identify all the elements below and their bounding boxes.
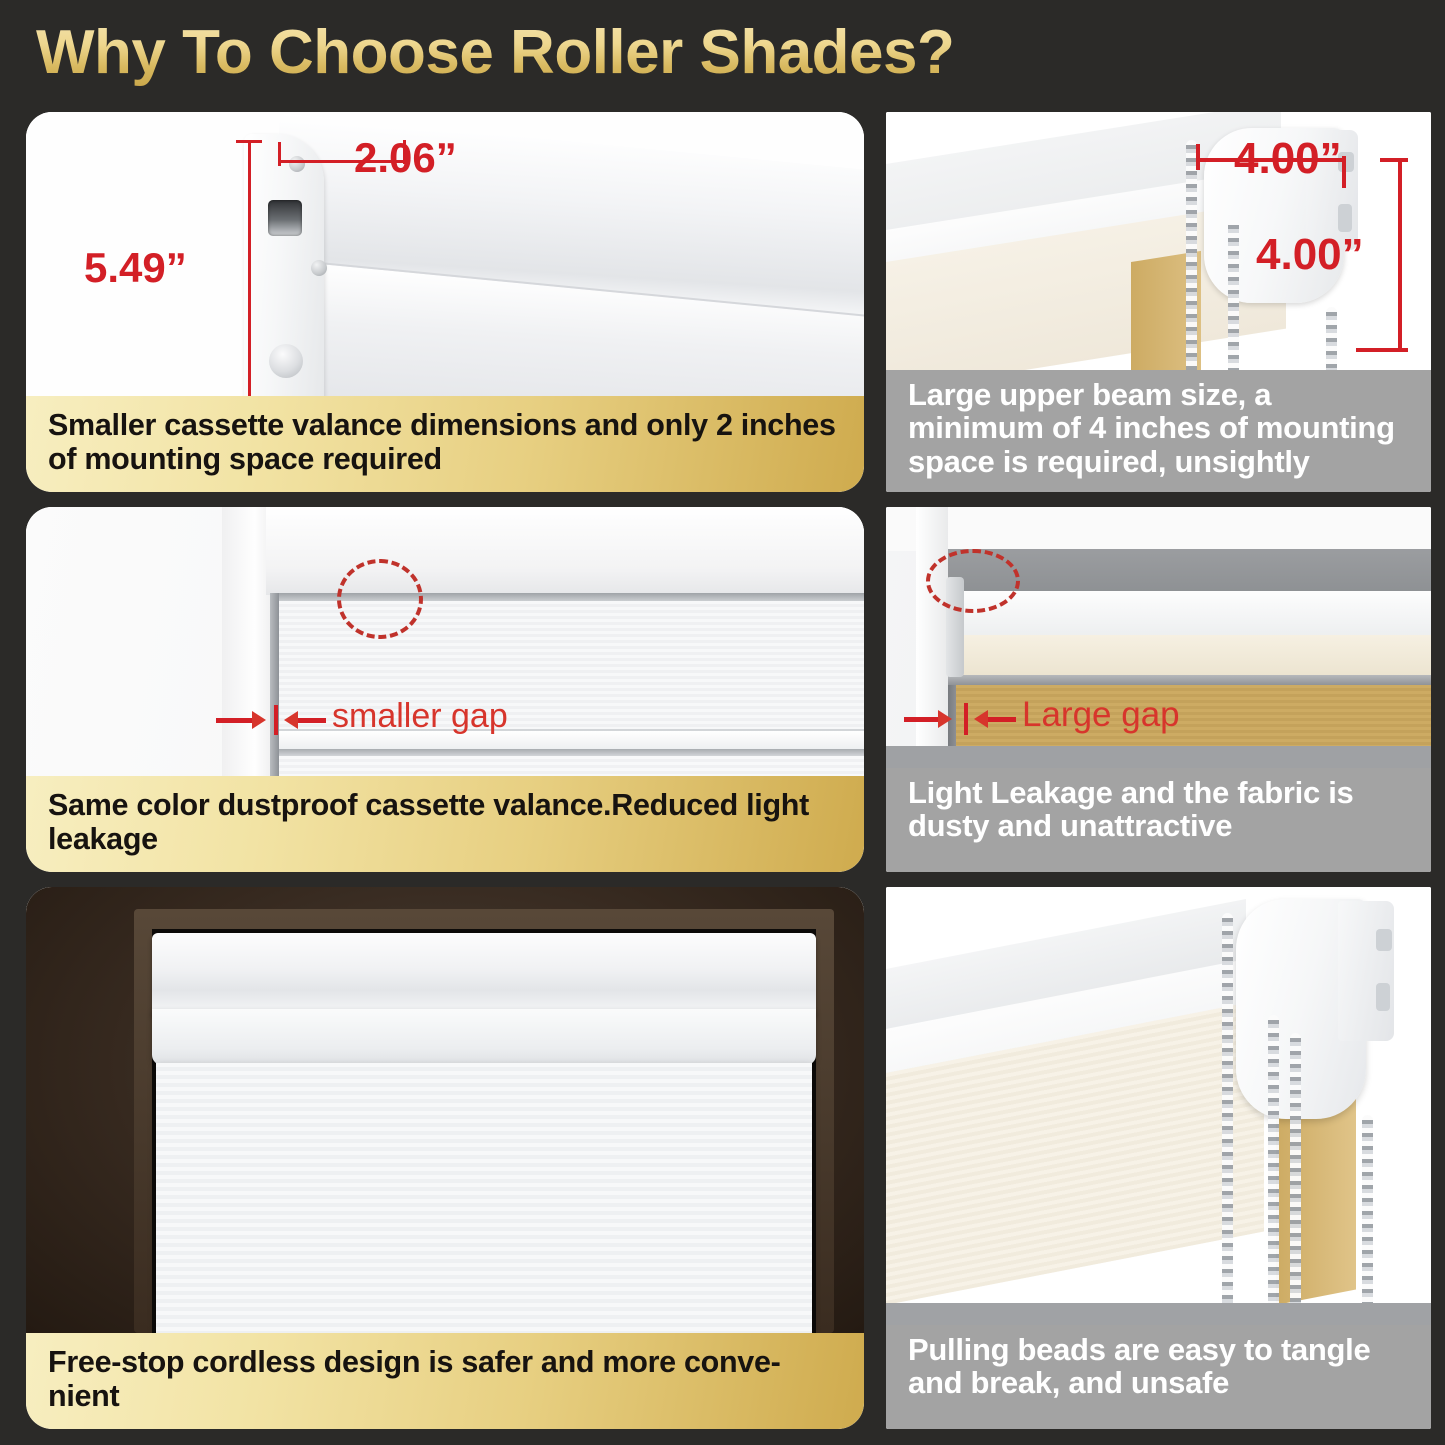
comparison-grid: 2.06” 5.49” Smaller cassette valance dim…	[0, 104, 1445, 1445]
white-valance-bar	[944, 591, 1431, 639]
panel-caption-large-upper-beam: Large upper beam size, a minimum of 4 in…	[886, 370, 1431, 492]
bead-chain-mid2	[1290, 1033, 1301, 1325]
tan-shade-fabric	[946, 685, 1431, 746]
screw-mid-icon	[311, 260, 327, 276]
end-cap-slot	[268, 200, 302, 236]
panel-light-leakage: Large gap Light Leakage and the fabric i…	[886, 507, 1431, 872]
header: Why To Choose Roller Shades?	[0, 0, 1445, 104]
ceiling-area	[886, 507, 1431, 551]
panel-caption-light-leakage: Light Leakage and the fabric is dusty an…	[886, 768, 1431, 872]
gap-arrowhead-right-icon	[938, 710, 952, 728]
mounting-slot-lower	[1338, 204, 1352, 232]
gap-arrowhead-right-icon	[252, 711, 266, 729]
screw-top-icon	[289, 156, 305, 172]
metal-rail	[944, 675, 1431, 685]
lower-shadow-band	[886, 746, 1431, 768]
bead-chain-left	[1186, 140, 1197, 370]
dim-tick-height-top	[236, 140, 262, 143]
gap-arrowhead-left-icon	[974, 710, 988, 728]
cream-fabric-band	[944, 635, 1431, 677]
dim-tick-height-bottom	[1356, 348, 1408, 352]
cassette-valance-lower	[152, 1009, 816, 1065]
gap-arrowhead-left-icon	[284, 711, 298, 729]
mounting-slot-lower	[1376, 983, 1390, 1011]
gap-marker-bar	[964, 703, 968, 735]
product-photo-cassette-valance: 2.06” 5.49”	[26, 112, 864, 396]
bead-chain-right	[1326, 307, 1337, 370]
roller-shade-fabric	[156, 1063, 812, 1333]
lower-shadow-band	[886, 1303, 1431, 1325]
window-frame-outer	[222, 507, 256, 776]
panel-caption-free-stop-cordless: Free-stop cordless design is safer and m…	[26, 1333, 864, 1429]
dim-tick-width-left	[1196, 144, 1200, 170]
dim-line-height	[248, 140, 251, 396]
gap-callout-label: smaller gap	[332, 697, 508, 736]
dimension-label-height: 5.49”	[84, 244, 187, 292]
bead-chain-right	[1362, 1115, 1373, 1325]
bead-chain-mid	[1228, 220, 1239, 370]
panel-pulling-beads: Pulling beads are easy to tangle and bre…	[886, 887, 1431, 1429]
bracket-mounting-plate	[1338, 901, 1394, 1041]
gap-arrow-left-shaft	[216, 718, 254, 723]
bead-chain-mid	[1268, 1015, 1279, 1325]
end-cap-knob	[269, 344, 303, 378]
panel-free-stop-cordless: Free-stop cordless design is safer and m…	[26, 887, 864, 1429]
room-photo-cordless-shade	[26, 887, 864, 1333]
highlight-circle-icon	[926, 549, 1020, 613]
product-photo-large-beam: 4.00” 4.00”	[886, 112, 1431, 370]
panel-large-upper-beam: 4.00” 4.00” Large upper beam size, a min…	[886, 112, 1431, 492]
mounting-slot-upper	[1376, 929, 1392, 951]
gap-marker-bar	[274, 705, 278, 735]
dim-tick-width-right	[1342, 156, 1346, 188]
highlight-circle-icon	[337, 559, 423, 639]
product-photo-dustproof-valance: smaller gap	[26, 507, 864, 776]
panel-caption-pulling-beads: Pulling beads are easy to tangle and bre…	[886, 1325, 1431, 1429]
cassette-rail-lower	[278, 749, 864, 756]
cassette-valance-top	[152, 933, 816, 1015]
gap-arrow-left-shaft	[904, 717, 940, 722]
shade-fabric-lower	[278, 756, 864, 776]
dimension-label-height: 4.00”	[1256, 230, 1364, 280]
product-photo-light-leakage: Large gap	[886, 507, 1431, 768]
gap-callout-label: Large gap	[1022, 695, 1180, 735]
panel-dustproof-cassette-valance: smaller gap Same color dustproof cassett…	[26, 507, 864, 872]
bead-chain-left	[1222, 913, 1233, 1325]
product-photo-bead-chain	[886, 887, 1431, 1325]
panel-caption-dustproof-cassette-valance: Same color dustproof cassette valance.Re…	[26, 776, 864, 872]
panel-caption-cassette-valance-dimensions: Smaller cassette valance dimensions and …	[26, 396, 864, 492]
dim-tick-width-left	[278, 142, 281, 166]
page-title: Why To Choose Roller Shades?	[36, 17, 954, 88]
dimension-label-width: 2.06”	[354, 134, 457, 182]
window-jamb	[916, 507, 948, 768]
dim-tick-height-top	[1380, 158, 1408, 162]
dimension-label-width: 4.00”	[1234, 134, 1342, 184]
dim-line-height	[1398, 158, 1402, 352]
panel-cassette-valance-dimensions: 2.06” 5.49” Smaller cassette valance dim…	[26, 112, 864, 492]
shade-side-edge	[270, 593, 279, 776]
